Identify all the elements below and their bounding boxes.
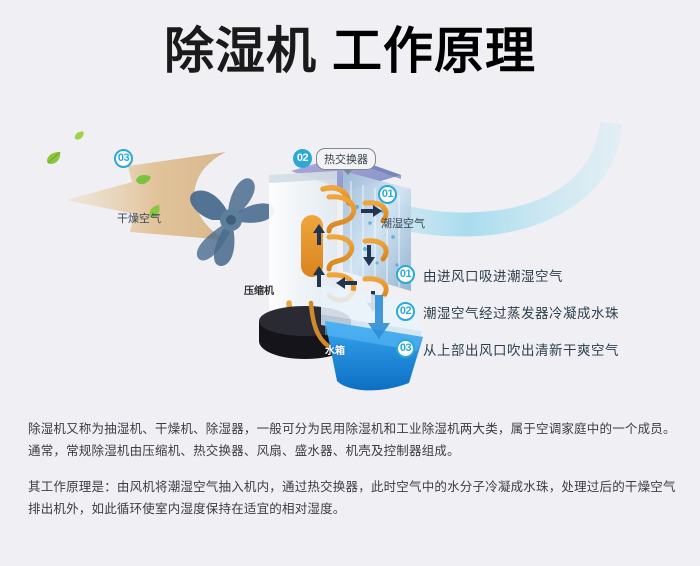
water-tank-label: 水箱 [325,342,345,357]
compressor-label: 压缩机 [244,282,274,297]
legend-text-02: 潮湿空气经过蒸发器冷凝成水珠 [423,302,619,322]
dry-air-badge: 03 [114,148,133,168]
legend-item-03: 03 从上部出风口吹出清新干爽空气 [396,330,686,367]
humid-air-badge: 01 [378,184,397,204]
description-paragraph-2: 其工作原理是：由风机将潮湿空气抽入机内，通过热交换器，此时空气中的水分子冷凝成水… [28,476,678,520]
heat-exchanger-badge: 02 [293,148,312,168]
description-paragraph-1: 除湿机又称为抽湿机、干燥机、除湿器，一般可分为民用除湿机和工业除湿机两大类，属于… [28,418,678,462]
leaf-icon [46,150,62,166]
title-part-2: 工作原理 [332,23,536,79]
humid-air-label: 潮湿空气 [381,215,425,231]
legend-item-02: 02 潮湿空气经过蒸发器冷凝成水珠 [396,293,686,330]
legend-text-01: 由进风口吸进潮湿空气 [423,265,563,285]
dry-air-label: 干燥空气 [117,210,161,226]
legend-badge-02: 02 [396,302,415,321]
leaf-icon [74,130,85,141]
title-part-1: 除湿机 [164,23,317,79]
page-title: 除湿机 工作原理 [0,26,700,76]
heat-exchanger-callout: 热交换器 [316,148,376,170]
legend-text-03: 从上部出风口吹出清新干爽空气 [423,339,619,359]
legend-badge-01: 01 [396,265,415,284]
leaf-icon [134,170,154,190]
legend-badge-03: 03 [396,339,415,358]
legend-item-01: 01 由进风口吸进潮湿空气 [396,256,686,293]
legend-list: 01 由进风口吸进潮湿空气 02 潮湿空气经过蒸发器冷凝成水珠 03 从上部出风… [396,256,686,367]
description-block: 除湿机又称为抽湿机、干燥机、除湿器，一般可分为民用除湿机和工业除湿机两大类，属于… [28,418,678,520]
